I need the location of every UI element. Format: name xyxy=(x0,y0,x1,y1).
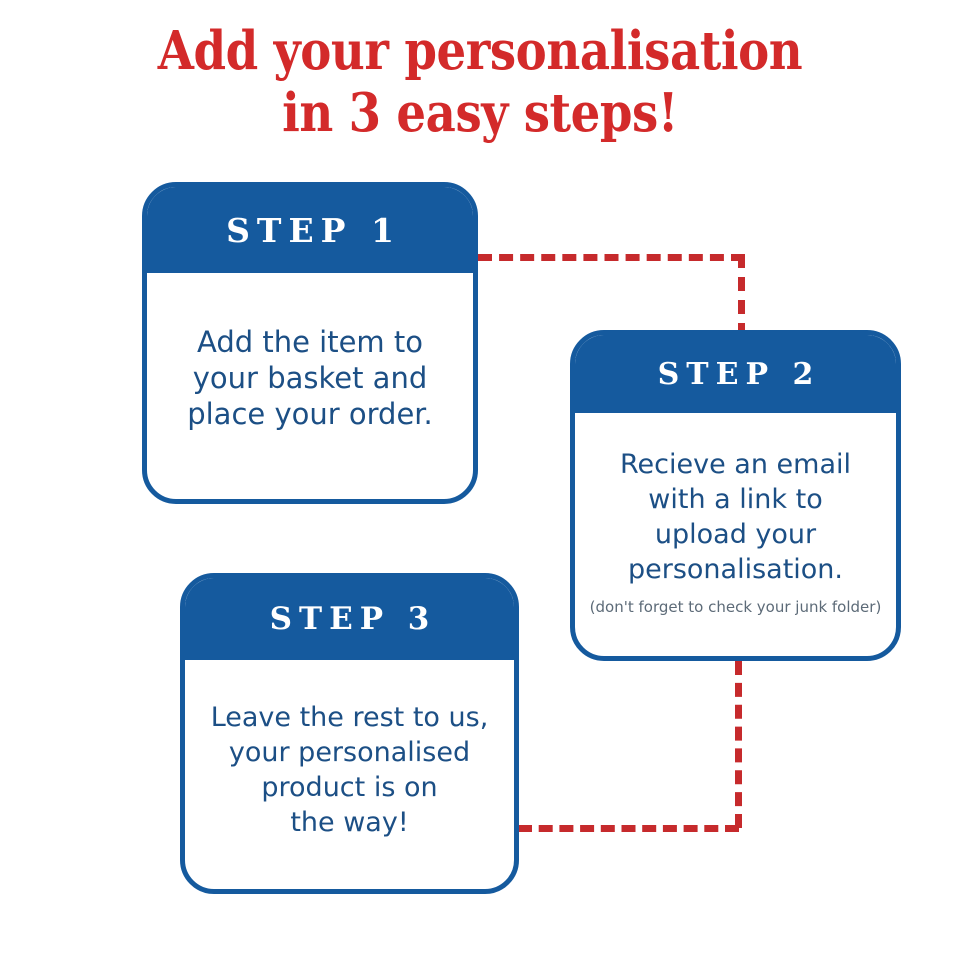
step-3-body: Leave the rest to us, your personalised … xyxy=(185,660,514,889)
connector-step2-to-step3-horizontal xyxy=(518,825,739,832)
step-1-text-line-2: your basket and xyxy=(187,360,433,396)
connector-step2-to-step3-vertical xyxy=(735,661,742,828)
step-3-text-line-3: product is on xyxy=(211,770,489,805)
step-2-note: (don't forget to check your junk folder) xyxy=(590,597,882,617)
page-title-line-1: Add your personalisation xyxy=(58,20,903,82)
step-2-text: Recieve an email with a link to upload y… xyxy=(620,447,851,587)
step-3-text-line-1: Leave the rest to us, xyxy=(211,700,489,735)
step-2-header: STEP 2 xyxy=(575,335,896,413)
step-3-text-line-4: the way! xyxy=(211,805,489,840)
step-2-text-line-2: with a link to xyxy=(620,482,851,517)
step-3-text-line-2: your personalised xyxy=(211,735,489,770)
step-card-3[interactable]: STEP 3 Leave the rest to us, your person… xyxy=(180,573,519,894)
connector-step1-to-step2 xyxy=(478,254,745,337)
page-title: Add your personalisation in 3 easy steps… xyxy=(58,20,903,144)
step-card-2[interactable]: STEP 2 Recieve an email with a link to u… xyxy=(570,330,901,661)
step-1-text: Add the item to your basket and place yo… xyxy=(187,324,433,432)
infographic-canvas: Add your personalisation in 3 easy steps… xyxy=(0,0,960,960)
step-2-body: Recieve an email with a link to upload y… xyxy=(575,413,896,656)
step-1-text-line-1: Add the item to xyxy=(187,324,433,360)
step-2-text-line-4: personalisation. xyxy=(620,552,851,587)
step-1-header: STEP 1 xyxy=(147,187,473,273)
page-title-line-2: in 3 easy steps! xyxy=(58,82,903,144)
step-card-1[interactable]: STEP 1 Add the item to your basket and p… xyxy=(142,182,478,504)
step-1-text-line-3: place your order. xyxy=(187,396,433,432)
step-2-text-line-1: Recieve an email xyxy=(620,447,851,482)
step-3-text: Leave the rest to us, your personalised … xyxy=(211,700,489,840)
step-3-header: STEP 3 xyxy=(185,578,514,660)
step-2-text-line-3: upload your xyxy=(620,517,851,552)
step-1-body: Add the item to your basket and place yo… xyxy=(147,273,473,499)
